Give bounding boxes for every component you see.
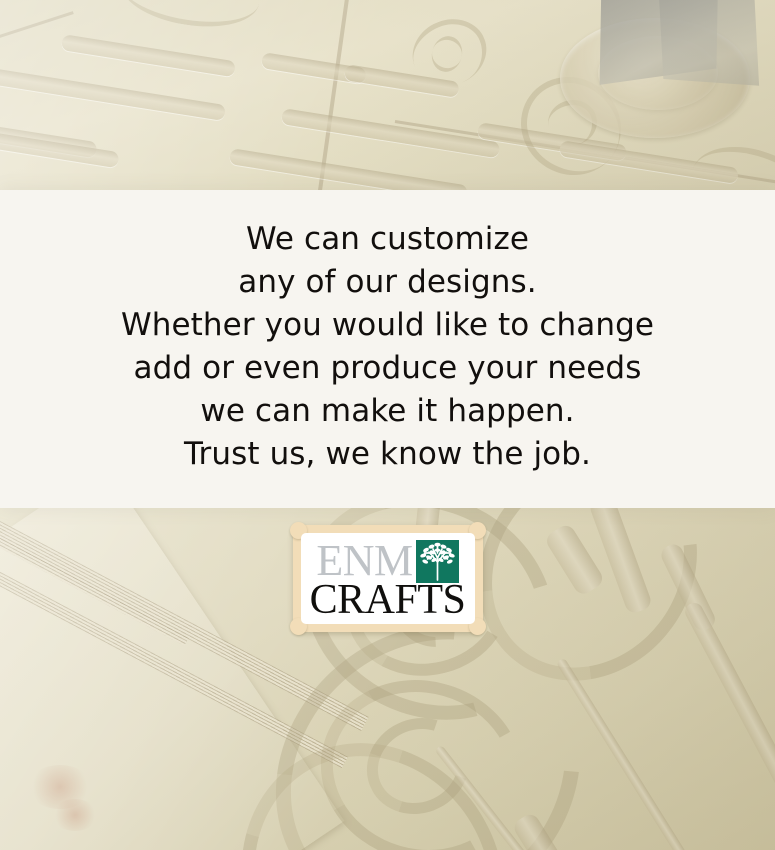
carved-scroll <box>193 697 553 850</box>
brand-logo[interactable]: ENM <box>293 525 483 632</box>
routed-slot <box>559 140 739 184</box>
message-band: We can customize any of our designs. Whe… <box>0 190 775 508</box>
carved-scroll <box>351 701 486 831</box>
carved-groove <box>588 505 653 615</box>
promo-banner: We can customize any of our designs. Whe… <box>0 0 775 850</box>
routed-slot <box>344 64 460 98</box>
plywood-edge <box>0 505 189 646</box>
routed-slot <box>0 132 120 168</box>
marketing-message: We can customize any of our designs. Whe… <box>121 218 654 480</box>
logo-card: ENM <box>301 533 475 624</box>
carved-disc <box>560 18 750 138</box>
routed-slot <box>477 122 628 161</box>
carved-groove <box>434 745 626 850</box>
routed-slot <box>261 52 367 84</box>
background-photo-top <box>0 0 775 200</box>
carved-swirl <box>545 97 600 148</box>
carved-swirl <box>403 8 497 96</box>
panel-seam <box>0 11 74 42</box>
routed-slot <box>0 122 98 158</box>
logo-text-crafts: CRAFTS <box>310 580 466 620</box>
clamp-block <box>600 0 719 85</box>
routed-slot <box>61 34 236 77</box>
routed-slot <box>281 108 501 158</box>
carved-groove <box>682 600 775 794</box>
carved-disc <box>598 36 718 110</box>
panel-seam <box>395 120 775 200</box>
carved-groove <box>556 657 723 850</box>
carved-swirl <box>502 57 641 195</box>
carved-swirl <box>428 33 466 75</box>
carved-swirl <box>116 0 264 36</box>
logo-text-enm: ENM <box>316 540 412 582</box>
clamp-block <box>657 0 759 86</box>
carved-groove <box>658 541 718 633</box>
routed-slot <box>0 66 226 121</box>
panel-seam <box>314 0 350 200</box>
carved-scroll <box>299 656 545 850</box>
wood-stain <box>28 765 92 809</box>
wood-stain <box>52 799 98 831</box>
carved-groove <box>511 811 570 850</box>
carved-groove <box>543 522 606 597</box>
